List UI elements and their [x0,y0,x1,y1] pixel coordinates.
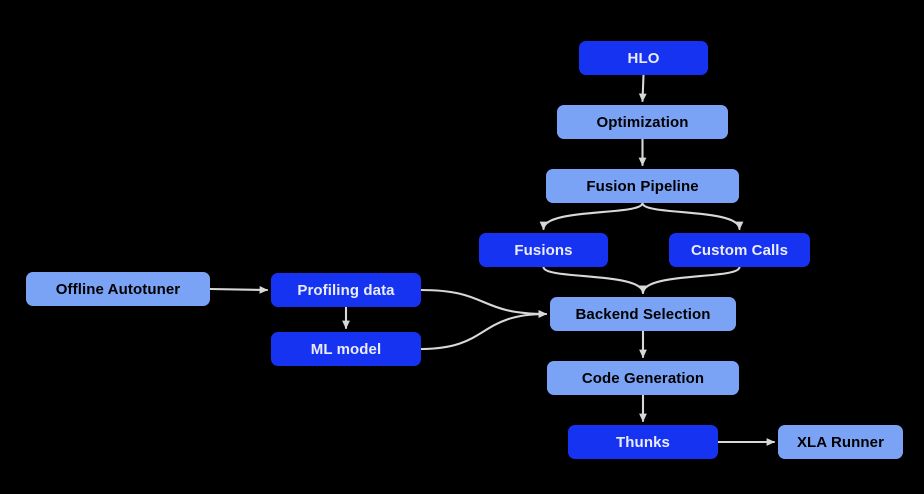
edge-fusion-pipeline-custom-calls [643,203,740,229]
edge-fusions-backend-selection [544,267,644,293]
node-label-fusions: Fusions [514,243,572,258]
edge-custom-calls-backend-selection [643,267,740,293]
edge-ml-model-backend-selection [421,314,546,349]
node-optimization[interactable]: Optimization [557,105,728,139]
node-offline-autotuner[interactable]: Offline Autotuner [26,272,210,306]
node-label-code-generation: Code Generation [582,371,704,386]
node-label-backend-selection: Backend Selection [575,307,710,322]
node-backend-selection[interactable]: Backend Selection [550,297,736,331]
node-label-thunks: Thunks [616,435,670,450]
node-custom-calls[interactable]: Custom Calls [669,233,810,267]
node-label-profiling-data: Profiling data [297,283,394,298]
edge-fusion-pipeline-fusions [544,203,643,229]
edge-profiling-data-backend-selection [421,290,546,314]
node-code-generation[interactable]: Code Generation [547,361,739,395]
edge-hlo-optimization [643,75,644,101]
node-label-ml-model: ML model [311,342,382,357]
node-label-custom-calls: Custom Calls [691,243,788,258]
node-label-optimization: Optimization [596,115,688,130]
node-xla-runner[interactable]: XLA Runner [778,425,903,459]
node-profiling-data[interactable]: Profiling data [271,273,421,307]
node-thunks[interactable]: Thunks [568,425,718,459]
node-hlo[interactable]: HLO [579,41,708,75]
node-fusion-pipeline[interactable]: Fusion Pipeline [546,169,739,203]
node-label-fusion-pipeline: Fusion Pipeline [586,179,698,194]
edge-offline-autotuner-profiling-data [210,289,267,290]
node-label-hlo: HLO [628,51,660,66]
node-label-offline-autotuner: Offline Autotuner [56,282,180,297]
flowchart-diagram: HLOOptimizationFusion PipelineFusionsCus… [0,0,924,494]
node-fusions[interactable]: Fusions [479,233,608,267]
node-label-xla-runner: XLA Runner [797,435,884,450]
node-ml-model[interactable]: ML model [271,332,421,366]
